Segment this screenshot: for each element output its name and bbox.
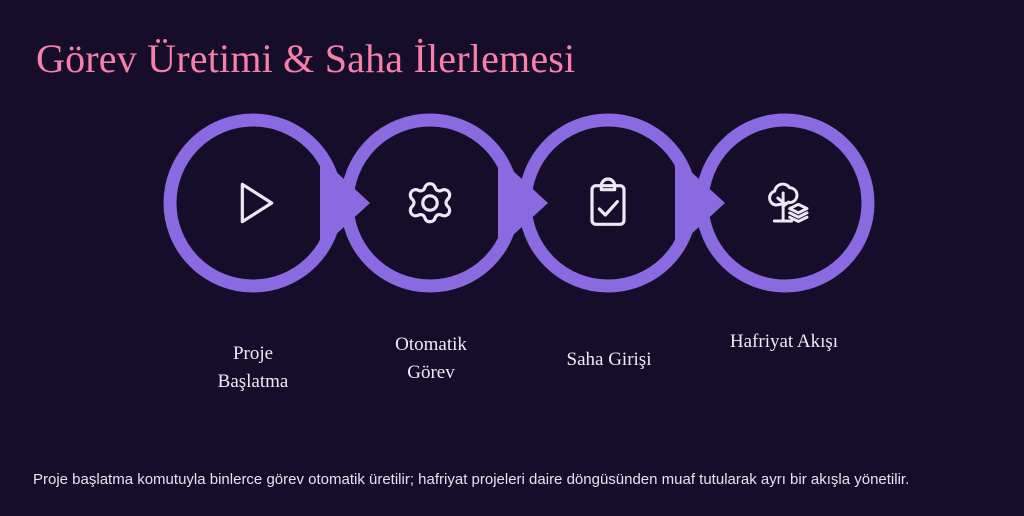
flow-graphics xyxy=(0,95,1024,310)
footer-description: Proje başlatma komutuyla binlerce görev … xyxy=(33,467,995,493)
tree-books-icon[interactable] xyxy=(753,171,817,235)
step-label-saha-girisi: Saha Girişi xyxy=(567,346,652,374)
process-flow-diagram: Proje Başlatma Otomatik Görev Saha Giriş… xyxy=(0,95,1024,310)
infographic-page: Görev Üretimi & Saha İlerlemesi xyxy=(0,0,1024,516)
step-label-proje-baslatma: Proje Başlatma xyxy=(218,340,289,395)
play-icon[interactable] xyxy=(221,171,285,235)
page-title: Görev Üretimi & Saha İlerlemesi xyxy=(36,35,575,82)
clipboard-check-icon[interactable] xyxy=(576,171,640,235)
step-label-otomatik-gorev: Otomatik Görev xyxy=(395,331,467,386)
gear-icon[interactable] xyxy=(398,171,462,235)
step-label-hafriyat-akisi: Hafriyat Akışı xyxy=(730,328,838,356)
